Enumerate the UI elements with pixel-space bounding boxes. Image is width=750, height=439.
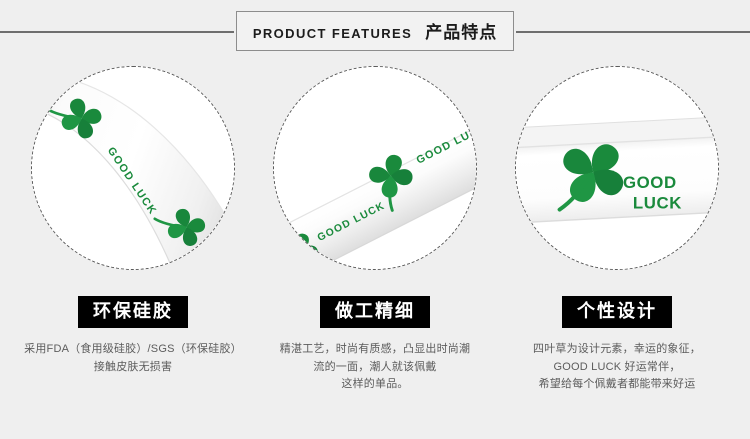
wristband-closeup-illustration: GOOD LUCK — [516, 67, 718, 269]
brand-text-line-1: GOOD — [623, 173, 677, 192]
feature-desc-1: 采用FDA（食用级硅胶）/SGS（环保硅胶） 接触皮肤无损害 — [18, 341, 248, 377]
feature-column-1: GOOD LUCK GOOD LUCK 环保硅胶 采用FDA（食用级硅胶）/SG… — [22, 66, 244, 394]
feature-desc-2: 精湛工艺，时尚有质感，凸显出时尚潮 流的一面，潮人就该佩戴 这样的单品。 — [260, 341, 490, 394]
product-photo-3: GOOD LUCK — [515, 66, 719, 270]
feature-column-3: GOOD LUCK 个性设计 四叶草为设计元素，幸运的象征， GOOD LUCK… — [506, 66, 728, 394]
wristband-diagonal-illustration: GOOD LUCK GOOD LUCK — [32, 67, 234, 269]
feature-label-2: 做工精细 — [320, 296, 430, 328]
page-header: PRODUCT FEATURES 产品特点 — [0, 0, 750, 62]
band-shape — [516, 115, 718, 224]
desc-line: 采用FDA（食用级硅胶）/SGS（环保硅胶） — [18, 341, 248, 359]
desc-line: GOOD LUCK 好运常伴， — [502, 359, 732, 377]
feature-label-3: 个性设计 — [562, 296, 672, 328]
desc-line: 这样的单品。 — [260, 376, 490, 394]
page-title-en: PRODUCT FEATURES — [253, 26, 412, 41]
product-photo-2: GOOD LUCK GOOD LUCK — [273, 66, 477, 270]
wristband-angled-illustration: GOOD LUCK GOOD LUCK — [274, 67, 476, 269]
feature-label-1: 环保硅胶 — [78, 296, 188, 328]
feature-columns: GOOD LUCK GOOD LUCK 环保硅胶 采用FDA（食用级硅胶）/SG… — [0, 66, 750, 394]
feature-desc-3: 四叶草为设计元素，幸运的象征， GOOD LUCK 好运常伴， 希望给每个佩戴者… — [502, 341, 732, 394]
feature-column-2: GOOD LUCK GOOD LUCK 做工精细 精湛工艺，时尚有质感，凸显出时… — [264, 66, 486, 394]
header-title-box: PRODUCT FEATURES 产品特点 — [236, 11, 514, 51]
product-photo-1: GOOD LUCK GOOD LUCK — [31, 66, 235, 270]
desc-line: 接触皮肤无损害 — [18, 359, 248, 377]
desc-line: 希望给每个佩戴者都能带来好运 — [502, 376, 732, 394]
desc-line: 四叶草为设计元素，幸运的象征， — [502, 341, 732, 359]
header-rule-left — [0, 31, 234, 33]
header-rule-right — [516, 31, 750, 33]
desc-line: 流的一面，潮人就该佩戴 — [260, 359, 490, 377]
brand-text-secondary: GOOD LUCK — [206, 252, 234, 269]
page-title-cn: 产品特点 — [425, 18, 497, 43]
desc-line: 精湛工艺，时尚有质感，凸显出时尚潮 — [260, 341, 490, 359]
brand-text-line-2: LUCK — [633, 194, 682, 213]
